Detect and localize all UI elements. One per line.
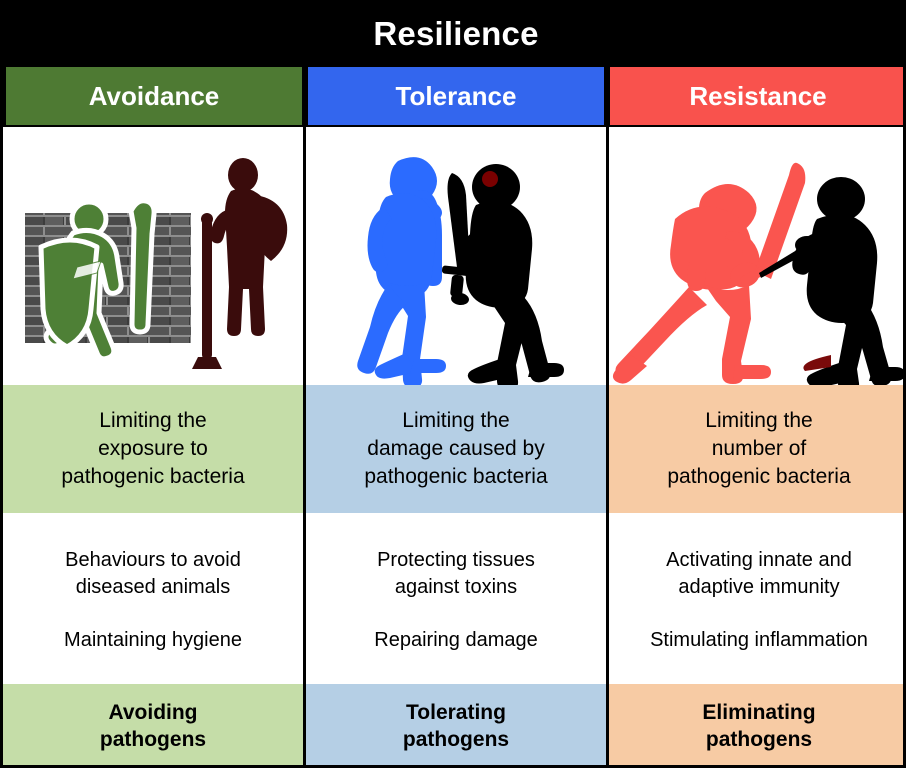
resistance-illustration-svg	[609, 127, 906, 385]
column-header-label-avoidance: Avoidance	[89, 81, 220, 112]
diagram-title-bar: Resilience	[3, 3, 906, 65]
statement-text-resistance: Limiting the number of pathogenic bacter…	[659, 407, 858, 490]
example-item: Protecting tissues against toxins	[371, 547, 541, 601]
page-title: Resilience	[373, 15, 538, 53]
column-header-tolerance: Tolerance	[305, 65, 607, 127]
examples-cell-tolerance: Protecting tissues against toxins Repair…	[306, 513, 606, 684]
statement-cell-avoidance: Limiting the exposure to pathogenic bact…	[3, 385, 303, 513]
illustration-resistance	[609, 127, 906, 385]
examples-cell-resistance: Activating innate and adaptive immunity …	[609, 513, 906, 684]
black-opponent-figure	[792, 177, 905, 385]
resilience-diagram: Resilience Avoidance Tolerance Resistanc…	[0, 0, 906, 768]
column-header-resistance: Resistance	[607, 65, 906, 127]
summary-cell-tolerance: Tolerating pathogens	[306, 684, 606, 768]
head-accent	[482, 171, 498, 187]
red-lunging-figure	[613, 184, 771, 384]
blue-defending-figure	[357, 157, 446, 385]
avoidance-illustration-svg	[3, 127, 303, 385]
example-item: Behaviours to avoid diseased animals	[59, 547, 247, 601]
column-tolerance: Limiting the damage caused by pathogenic…	[306, 127, 609, 768]
tolerance-illustration-svg	[306, 127, 606, 385]
column-body-row: Limiting the exposure to pathogenic bact…	[3, 127, 906, 768]
maroon-guard-figure	[192, 158, 287, 369]
example-item: Repairing damage	[368, 627, 543, 654]
black-swordsman-figure	[460, 164, 564, 385]
column-resistance: Limiting the number of pathogenic bacter…	[609, 127, 906, 768]
statement-text-avoidance: Limiting the exposure to pathogenic bact…	[53, 407, 252, 490]
column-avoidance: Limiting the exposure to pathogenic bact…	[3, 127, 306, 768]
column-header-label-tolerance: Tolerance	[396, 81, 517, 112]
summary-text-tolerance: Tolerating pathogens	[403, 699, 509, 754]
summary-text-resistance: Eliminating pathogens	[702, 699, 815, 754]
statement-cell-resistance: Limiting the number of pathogenic bacter…	[609, 385, 906, 513]
column-header-row: Avoidance Tolerance Resistance	[3, 65, 906, 127]
example-item: Activating innate and adaptive immunity	[660, 547, 858, 601]
summary-text-avoidance: Avoiding pathogens	[100, 699, 206, 754]
summary-cell-avoidance: Avoiding pathogens	[3, 684, 303, 768]
example-item: Stimulating inflammation	[644, 627, 874, 654]
examples-cell-avoidance: Behaviours to avoid diseased animals Mai…	[3, 513, 303, 684]
column-header-label-resistance: Resistance	[689, 81, 826, 112]
summary-cell-resistance: Eliminating pathogens	[609, 684, 906, 768]
example-item: Maintaining hygiene	[58, 627, 248, 654]
illustration-tolerance	[306, 127, 606, 385]
illustration-avoidance	[3, 127, 303, 385]
column-header-avoidance: Avoidance	[3, 65, 305, 127]
statement-text-tolerance: Limiting the damage caused by pathogenic…	[356, 407, 555, 490]
statement-cell-tolerance: Limiting the damage caused by pathogenic…	[306, 385, 606, 513]
